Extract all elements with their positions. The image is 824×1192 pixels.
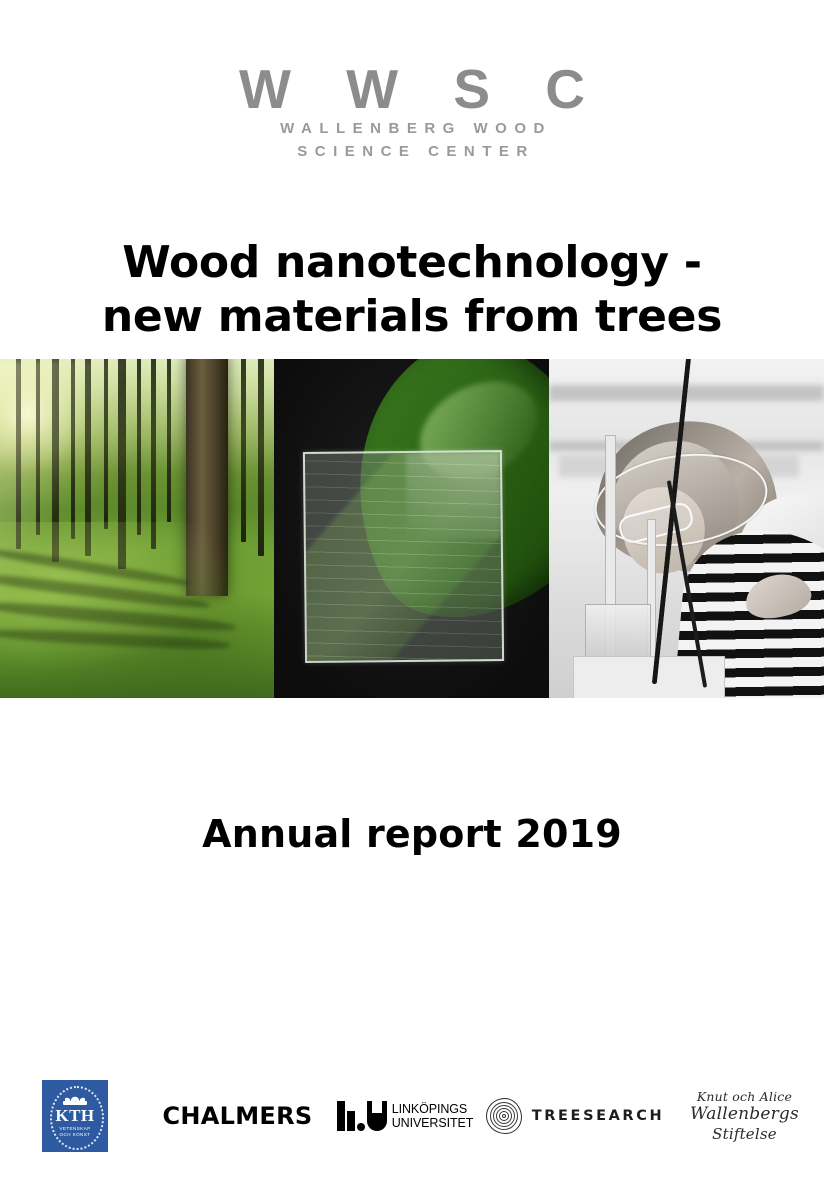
page-title-line-1: Wood nanotechnology - [0, 236, 824, 290]
laboratory-researcher-photo [549, 359, 824, 698]
partner-logo-kth: KTH VETENSKAP OCH KONST [0, 1066, 150, 1166]
sample-gloss-highlight [406, 452, 500, 540]
sunlit-spruce-forest-photo [0, 359, 274, 698]
liu-dot-icon [357, 1123, 365, 1131]
wwsc-wordmark: W W S C [0, 62, 824, 117]
lab-beaker [585, 604, 651, 660]
liu-wordmark-line-2: UNIVERSITET [392, 1116, 474, 1130]
kaw-line-2: Wallenbergs [690, 1104, 799, 1125]
liu-bar-tall [337, 1101, 345, 1131]
liu-wordmark: LINKÖPINGS UNIVERSITET [392, 1102, 474, 1130]
kth-letters: KTH [55, 1107, 94, 1124]
partner-logo-row: KTH VETENSKAP OCH KONST CHALMERS LINKÖPI… [0, 1066, 824, 1166]
wwsc-subtitle-line-1: WALLENBERG WOOD [0, 117, 824, 140]
cover-image-band [0, 359, 824, 698]
wwsc-logo: W W S C WALLENBERG WOOD SCIENCE CENTER [0, 62, 824, 164]
wwsc-subtitle-line-2: SCIENCE CENTER [0, 140, 824, 163]
treesearch-wordmark: TREESEARCH [532, 1108, 664, 1124]
liu-u-letter [367, 1101, 387, 1131]
partner-logo-kaw: Knut och Alice Wallenbergs Stiftelse [665, 1066, 824, 1166]
kth-logo-mark: KTH VETENSKAP OCH KONST [42, 1080, 108, 1152]
chalmers-wordmark: CHALMERS [162, 1102, 312, 1130]
kaw-line-1: Knut och Alice [690, 1089, 799, 1104]
transparent-wood-square [303, 450, 504, 663]
crown-icon [63, 1094, 87, 1105]
kth-tagline: VETENSKAP OCH KONST [59, 1126, 90, 1138]
kth-tagline-line-2: OCH KONST [59, 1132, 90, 1138]
liu-logo-mark [337, 1101, 387, 1131]
forest-moss-floor [0, 522, 274, 698]
page-title-line-2: new materials from trees [0, 290, 824, 344]
liu-bar-short [347, 1111, 355, 1131]
partner-logo-chalmers: CHALMERS [150, 1066, 325, 1166]
transparent-wood-sample-photo [274, 359, 549, 698]
liu-wordmark-line-1: LINKÖPINGS [392, 1102, 474, 1116]
partner-logo-treesearch: TREESEARCH [485, 1066, 665, 1166]
partner-logo-liu: LINKÖPINGS UNIVERSITET [325, 1066, 485, 1166]
report-subtitle: Annual report 2019 [0, 812, 824, 856]
kaw-wordmark: Knut och Alice Wallenbergs Stiftelse [690, 1089, 799, 1143]
page-title: Wood nanotechnology - new materials from… [0, 236, 824, 343]
kaw-line-3: Stiftelse [690, 1125, 799, 1143]
tree-rings-icon [486, 1098, 522, 1134]
